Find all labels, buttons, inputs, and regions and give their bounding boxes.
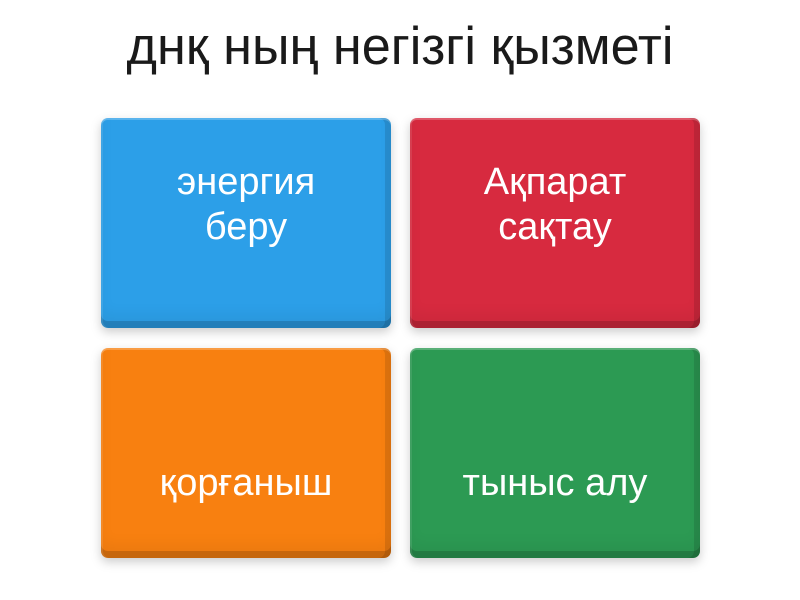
- answer-card-korganysh[interactable]: қорғаныш: [101, 348, 391, 558]
- answer-label: Ақпарат сақтау: [474, 160, 637, 250]
- answer-label: қорғаныш: [150, 461, 343, 506]
- quiz-slide: днқ ның негізгі қызметі энергия беру Ақп…: [0, 0, 800, 600]
- page-title: днқ ның негізгі қызметі: [6, 16, 794, 78]
- answer-card-akparat-saktau[interactable]: Ақпарат сақтау: [410, 118, 700, 328]
- answer-card-energiya-beru[interactable]: энергия беру: [101, 118, 391, 328]
- answer-label: тыныс алу: [453, 461, 658, 506]
- answer-label: энергия беру: [167, 160, 325, 250]
- answer-grid: энергия беру Ақпарат сақтау қорғаныш тын…: [101, 118, 700, 558]
- answer-card-tynys-alu[interactable]: тыныс алу: [410, 348, 700, 558]
